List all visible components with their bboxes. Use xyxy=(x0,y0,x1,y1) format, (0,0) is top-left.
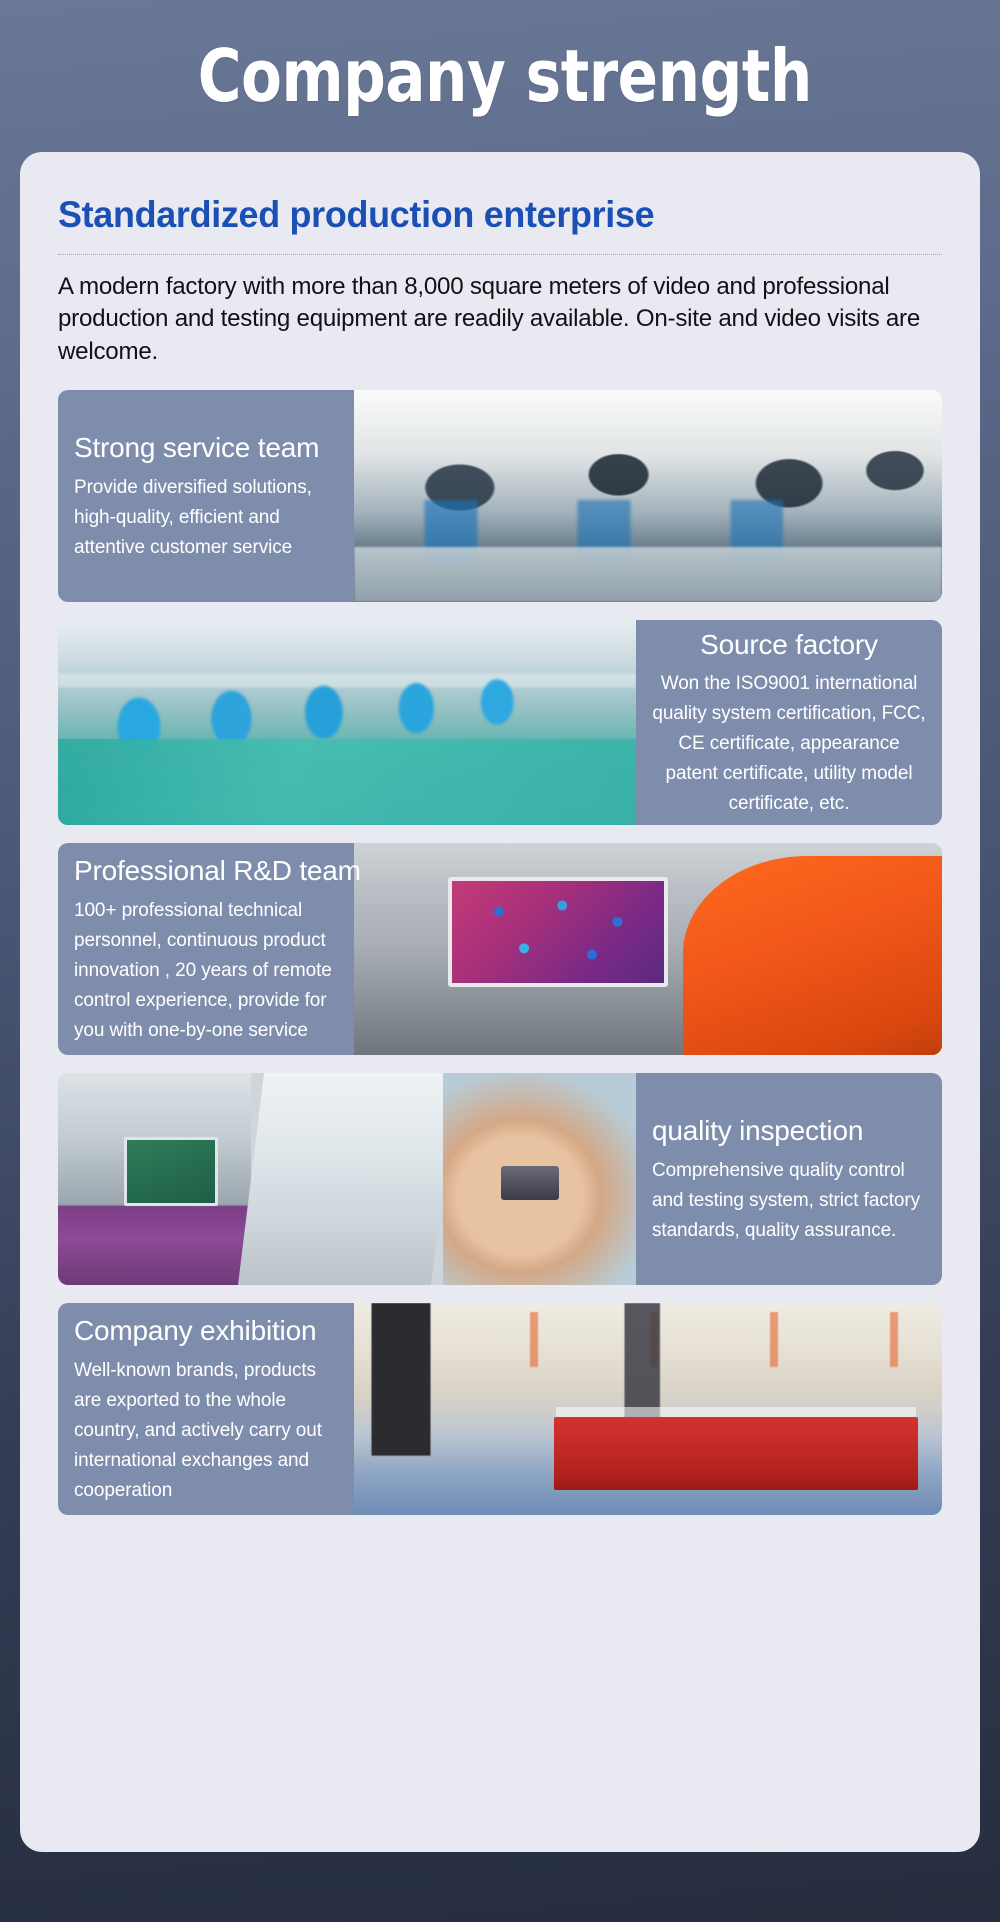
feature-panel: Company exhibition Well-known brands, pr… xyxy=(58,1303,354,1515)
feature-title: quality inspection xyxy=(652,1116,863,1147)
card-intro-text: A modern factory with more than 8,000 sq… xyxy=(58,271,929,368)
feature-block-source-factory: Source factory Won the ISO9001 internati… xyxy=(58,620,942,825)
page-title: Company strength xyxy=(198,34,812,118)
card-title: Standardized production enterprise xyxy=(58,194,915,236)
feature-block-professional-rd-team: Professional R&D team 100+ professional … xyxy=(58,843,942,1055)
rd-lab-photo xyxy=(354,843,942,1055)
feature-panel: Strong service team Provide diversified … xyxy=(58,390,354,602)
quality-inspection-photo xyxy=(58,1073,636,1285)
qc-segment-machine xyxy=(58,1073,251,1285)
feature-text: Won the ISO9001 international quality sy… xyxy=(652,669,926,819)
feature-text: 100+ professional technical personnel, c… xyxy=(74,896,338,1046)
feature-title: Professional R&D team xyxy=(74,856,361,887)
qc-segment-worker xyxy=(238,1073,457,1285)
qc-segment-handheld xyxy=(443,1073,636,1285)
feature-block-strong-service-team: Strong service team Provide diversified … xyxy=(58,390,942,602)
feature-text: Provide diversified solutions, high-qual… xyxy=(74,473,338,563)
title-divider xyxy=(58,254,942,255)
feature-title: Company exhibition xyxy=(74,1316,316,1347)
feature-text: Comprehensive quality control and testin… xyxy=(652,1156,926,1246)
office-service-team-photo xyxy=(354,390,942,602)
assembly-line-photo xyxy=(58,620,636,825)
feature-title: Strong service team xyxy=(74,433,319,464)
card-bottom-spacer xyxy=(58,1533,942,1573)
feature-panel: quality inspection Comprehensive quality… xyxy=(636,1073,942,1285)
content-card: Standardized production enterprise A mod… xyxy=(20,152,980,1852)
feature-block-quality-inspection: quality inspection Comprehensive quality… xyxy=(58,1073,942,1285)
feature-block-company-exhibition: Company exhibition Well-known brands, pr… xyxy=(58,1303,942,1515)
page-header: Company strength xyxy=(0,0,1000,152)
feature-title: Source factory xyxy=(700,630,878,661)
exhibition-booth-photo xyxy=(354,1303,942,1515)
feature-panel: Source factory Won the ISO9001 internati… xyxy=(636,620,942,825)
feature-text: Well-known brands, products are exported… xyxy=(74,1356,338,1506)
feature-panel: Professional R&D team 100+ professional … xyxy=(58,843,354,1055)
